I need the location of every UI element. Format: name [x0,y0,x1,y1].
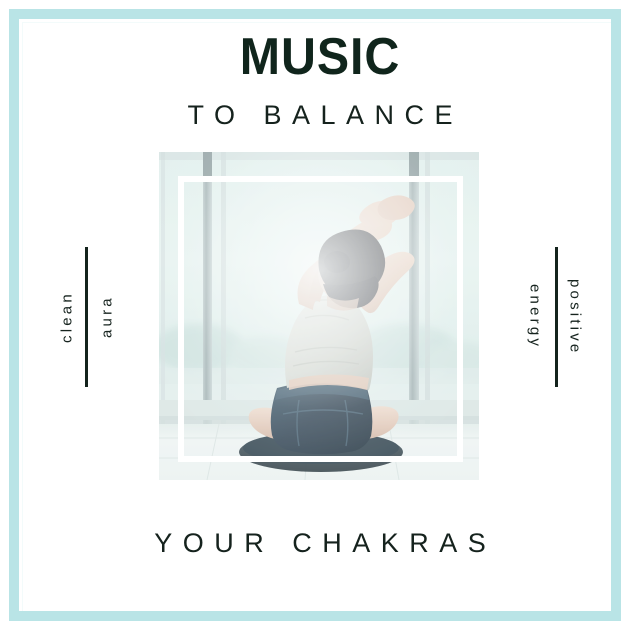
poster-canvas: MUSIC TO BALANCE YOUR CHAKRAS clean aura… [0,0,640,640]
keyword-energy: energy [522,247,548,387]
page-footer-text: YOUR CHAKRAS [0,528,640,558]
keyword-positive: positive [562,247,588,387]
keyword-rail-right: energy positive [518,247,588,387]
keyword-aura: aura [94,247,120,387]
keyword-clean: clean [54,247,80,387]
rail-divider-right [555,247,558,387]
rail-divider-left [85,247,88,387]
headline-block: MUSIC TO BALANCE [0,30,640,130]
keyword-rail-left: clean aura [52,247,122,387]
yoga-photo [159,152,479,480]
page-subtitle: TO BALANCE [0,100,640,130]
page-title: MUSIC [22,30,617,84]
yoga-photo-illustration [159,152,479,480]
